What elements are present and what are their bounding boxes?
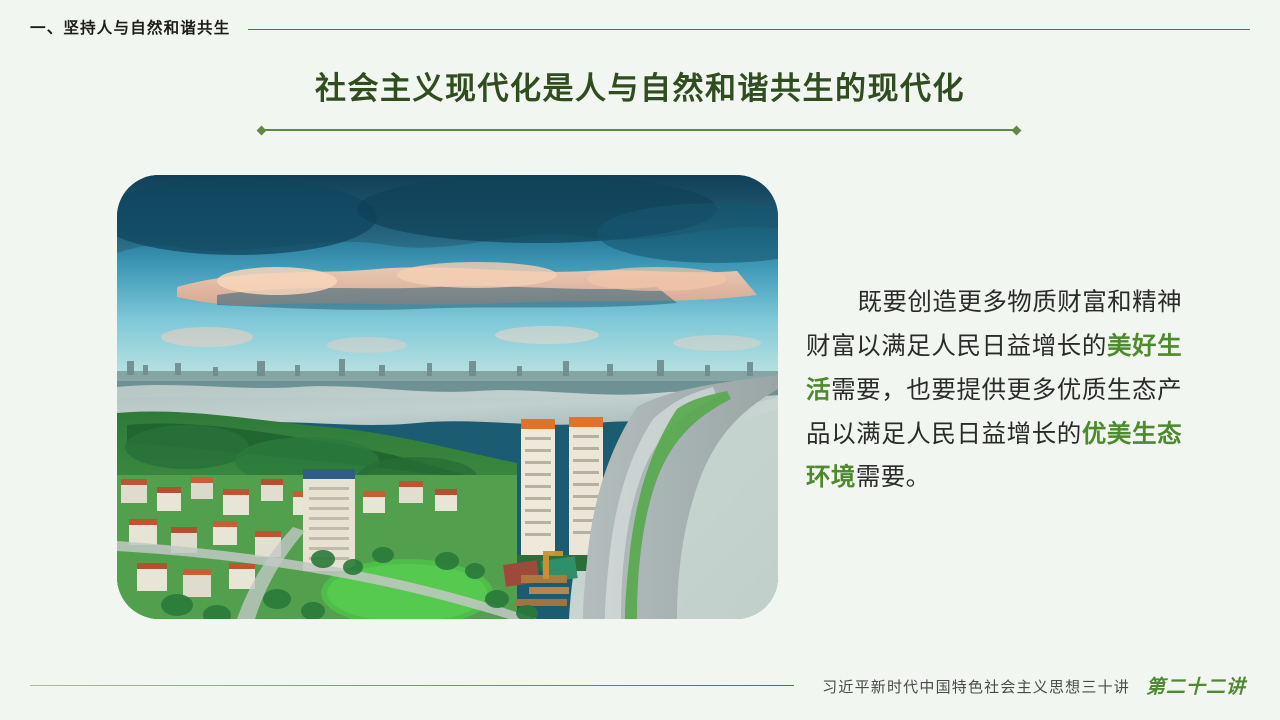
footer-divider-line bbox=[30, 685, 794, 686]
aerial-cityscape-image bbox=[117, 175, 778, 619]
page-title: 社会主义现代化是人与自然和谐共生的现代化 bbox=[0, 70, 1280, 107]
slide-header: 一、坚持人与自然和谐共生 bbox=[30, 16, 1250, 42]
body-segment-3: 需要。 bbox=[856, 464, 931, 491]
body-paragraph: 既要创造更多物质财富和精神财富以满足人民日益增长的美好生活需要，也要提供更多优质… bbox=[806, 281, 1182, 500]
footer-lecture-number: 第二十二讲 bbox=[1146, 678, 1246, 697]
title-rule-line bbox=[265, 129, 1013, 131]
illustration-photo bbox=[117, 175, 778, 619]
header-divider-line bbox=[248, 29, 1250, 30]
footer-series-title: 习近平新时代中国特色社会主义思想三十讲 bbox=[822, 680, 1130, 695]
diamond-left-icon bbox=[257, 125, 267, 135]
title-underline-decoration bbox=[258, 123, 1020, 137]
diamond-right-icon bbox=[1012, 125, 1022, 135]
slide-footer: 习近平新时代中国特色社会主义思想三十讲 第二十二讲 bbox=[30, 672, 1246, 702]
section-label: 一、坚持人与自然和谐共生 bbox=[30, 21, 230, 37]
title-block: 社会主义现代化是人与自然和谐共生的现代化 bbox=[0, 70, 1280, 107]
